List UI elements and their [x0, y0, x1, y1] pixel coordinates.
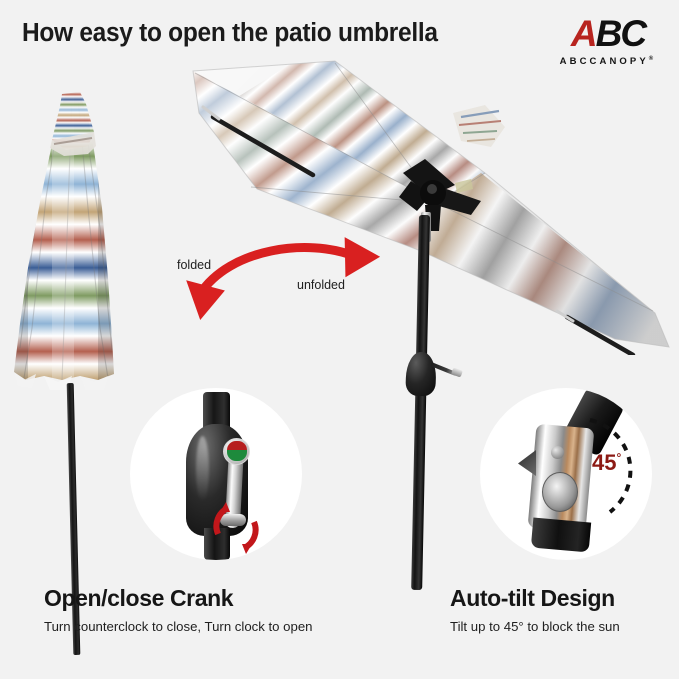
tilt-feature-subtitle: Tilt up to 45° to block the sun: [450, 619, 679, 634]
tilt-inset-lower-pole: [531, 518, 591, 553]
tilt-inset-screw: [551, 446, 564, 459]
folded-umbrella-canopy: [2, 88, 182, 398]
fold-state-arrow-group: folded unfolded: [168, 232, 398, 328]
crank-inset-highlight: [196, 436, 209, 502]
crank-inset-badge-red-half: [227, 441, 247, 450]
crank-feature-inset: [130, 388, 302, 560]
canopy-gathered-fabric: [453, 105, 505, 147]
degree-symbol-icon: °: [616, 451, 621, 465]
tilt-angle-label: 45°: [592, 450, 621, 476]
crank-inset-badge: [223, 438, 250, 465]
tilt-feature-caption: Auto-tilt Design Tilt up to 45° to block…: [450, 584, 679, 634]
tilt-inset-lever: [542, 472, 578, 512]
umbrella-crank-knob: [451, 368, 463, 378]
tilt-feature-heading: Auto-tilt Design: [450, 584, 679, 612]
brand-logo-letters-bc: BC: [596, 13, 645, 54]
curved-double-arrow-icon: [168, 232, 398, 328]
crank-feature-caption: Open/close Crank Turn counterclock to cl…: [44, 584, 364, 634]
umbrella-crank-housing: [405, 351, 437, 396]
folded-canopy-top-cap: [50, 92, 96, 156]
tilt-inset-release-tab: [518, 450, 536, 476]
crank-feature-heading: Open/close Crank: [44, 584, 364, 612]
rotation-arrows-icon: [208, 500, 264, 556]
crank-feature-subtitle: Turn counterclock to close, Turn clock t…: [44, 619, 364, 634]
brand-logo-mark: ABC: [554, 14, 662, 54]
label-unfolded: unfolded: [297, 278, 345, 292]
crank-inset-badge-green-half: [227, 450, 247, 461]
tilt-feature-inset: 45°: [480, 388, 652, 560]
page-title: How easy to open the patio umbrella: [22, 19, 438, 48]
label-folded: folded: [177, 258, 211, 272]
brand-logo-letter-a: A: [571, 13, 596, 54]
infographic-canvas: How easy to open the patio umbrella ABC …: [0, 0, 679, 679]
tilt-angle-value: 45: [592, 450, 616, 475]
